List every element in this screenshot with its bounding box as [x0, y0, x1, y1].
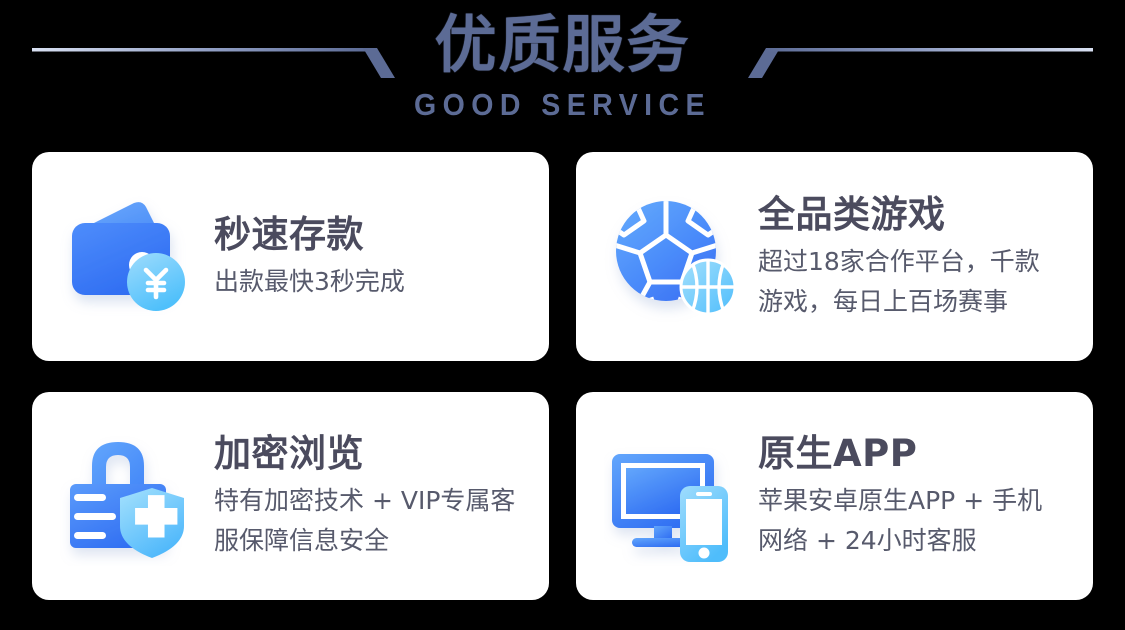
card-description: 苹果安卓原生APP + 手机 网络 + 24小时客服 [758, 481, 1042, 561]
feature-card-encryption[interactable]: 加密浏览 特有加密技术 + VIP专属客 服保障信息安全 [32, 392, 549, 600]
page-subtitle: GOOD SERVICE [45, 86, 1080, 124]
card-description: 超过18家合作平台，千款 游戏，每日上百场赛事 [758, 242, 1040, 322]
card-title: 全品类游戏 [758, 192, 1040, 238]
card-description: 出款最快3秒完成 [214, 262, 405, 302]
page-title: 优质服务 [0, 6, 1125, 84]
card-description-line: 特有加密技术 + VIP专属客 [214, 481, 515, 521]
page-header: 优质服务 GOOD SERVICE [0, 0, 1125, 150]
card-text-encryption: 加密浏览 特有加密技术 + VIP专属客 服保障信息安全 [214, 431, 525, 561]
card-description: 特有加密技术 + VIP专属客 服保障信息安全 [214, 481, 515, 561]
card-title: 原生APP [758, 431, 1042, 477]
wallet-yen-icon [60, 187, 200, 327]
card-text-deposit: 秒速存款 出款最快3秒完成 [214, 212, 415, 302]
card-description-line: 网络 + 24小时客服 [758, 521, 1042, 561]
card-text-games: 全品类游戏 超过18家合作平台，千款 游戏，每日上百场赛事 [758, 192, 1050, 322]
soccer-basketball-icon [604, 187, 744, 327]
card-description-line: 服保障信息安全 [214, 521, 515, 561]
feature-card-deposit[interactable]: 秒速存款 出款最快3秒完成 [32, 152, 549, 361]
card-text-native-app: 原生APP 苹果安卓原生APP + 手机 网络 + 24小时客服 [758, 431, 1052, 561]
monitor-phone-icon [604, 426, 744, 566]
feature-card-games[interactable]: 全品类游戏 超过18家合作平台，千款 游戏，每日上百场赛事 [576, 152, 1093, 361]
card-description-line: 游戏，每日上百场赛事 [758, 282, 1040, 322]
lock-shield-icon [60, 426, 200, 566]
card-description-line: 超过18家合作平台，千款 [758, 242, 1040, 282]
card-description-line: 苹果安卓原生APP + 手机 [758, 481, 1042, 521]
feature-card-native-app[interactable]: 原生APP 苹果安卓原生APP + 手机 网络 + 24小时客服 [576, 392, 1093, 600]
card-title: 秒速存款 [214, 212, 405, 258]
feature-card-grid: 秒速存款 出款最快3秒完成 [32, 152, 1093, 600]
card-title: 加密浏览 [214, 431, 515, 477]
card-description-line: 出款最快3秒完成 [214, 262, 405, 302]
